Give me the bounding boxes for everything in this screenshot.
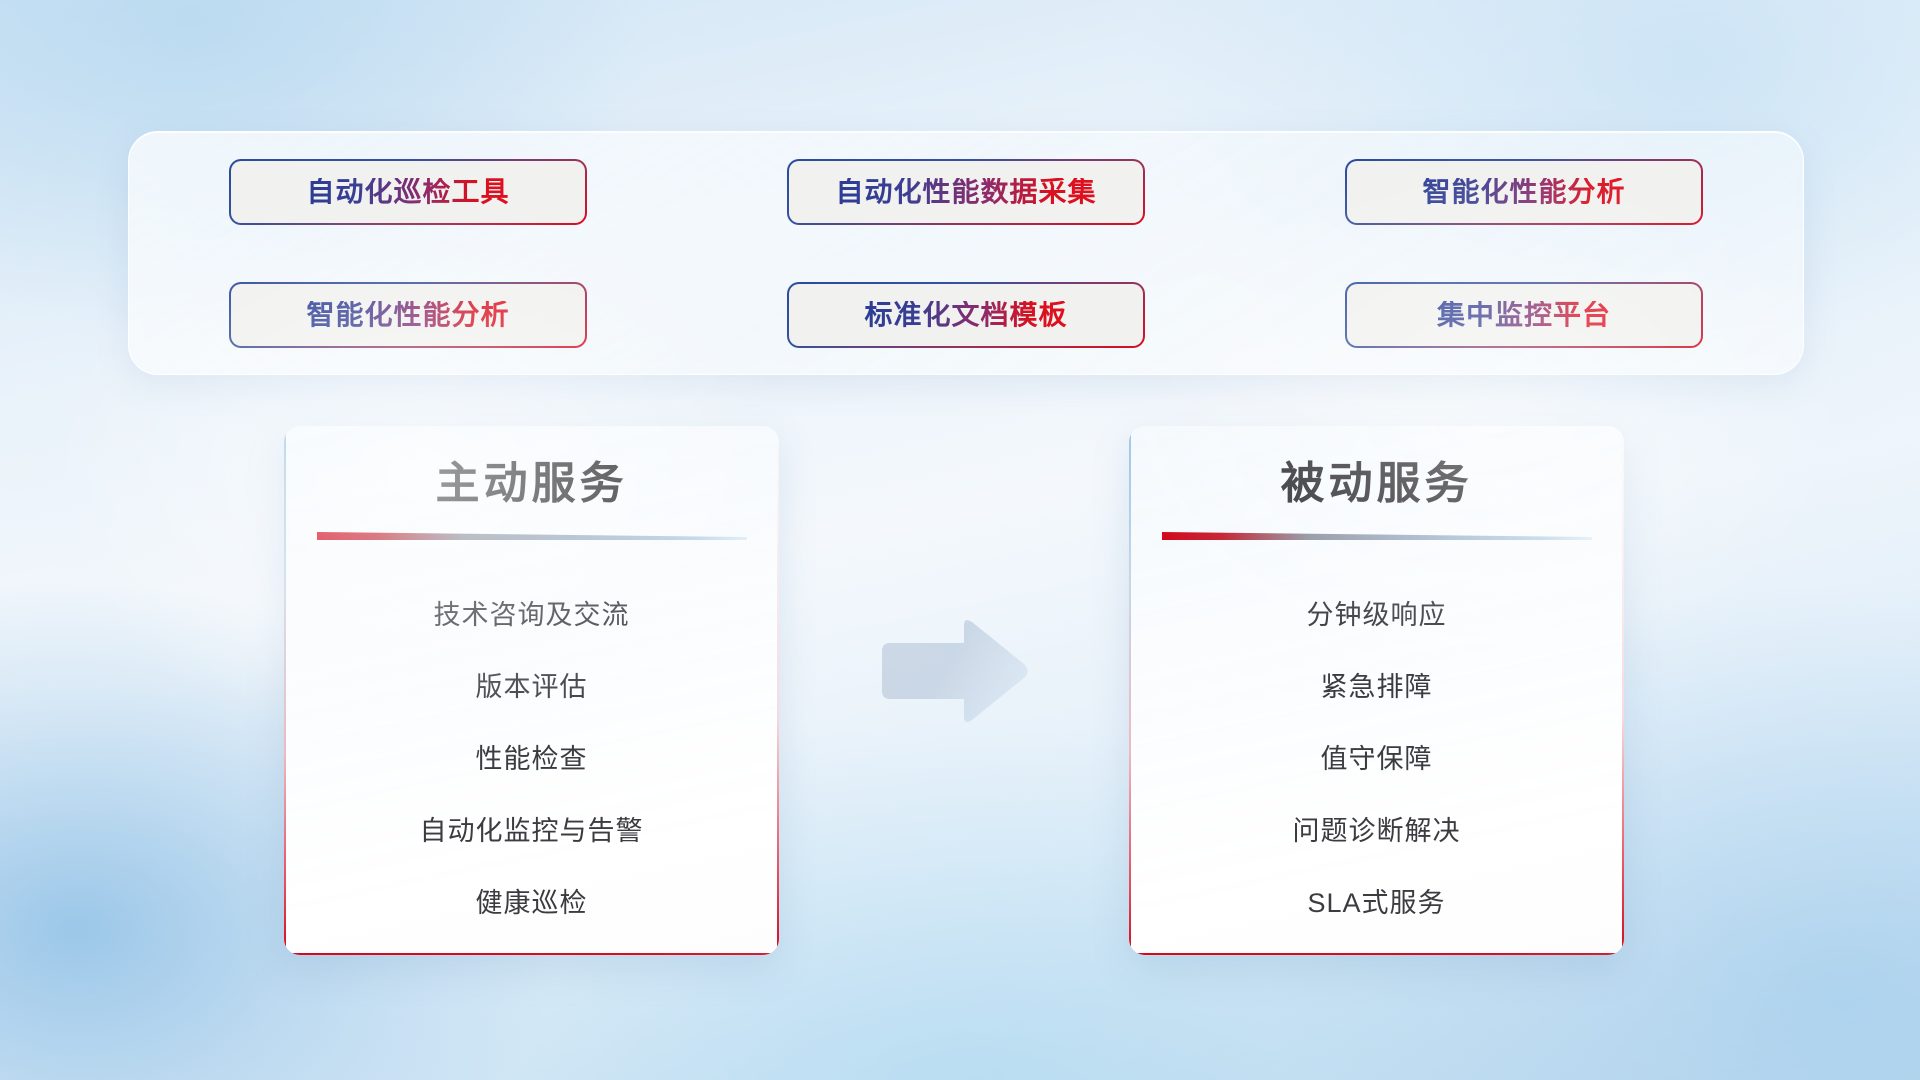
capability-pill-label: 智能化性能分析 [1422, 178, 1625, 206]
list-item[interactable]: 问题诊断解决 [1293, 792, 1461, 864]
capability-pill-label: 智能化性能分析 [306, 301, 509, 329]
capability-pill-2[interactable]: 自动化性能数据采集 [787, 159, 1145, 225]
capability-panel: 自动化巡检工具 自动化性能数据采集 智能化性能分析 智能化性能分析 标准化文档模… [128, 131, 1804, 375]
service-card-reactive: 被动服务 分钟级响应 紧急排障 值守保障 [1129, 426, 1624, 955]
list-item[interactable]: 版本评估 [476, 648, 588, 720]
card-item-list: 技术咨询及交流 版本评估 性能检查 自动化监控与告警 健康巡检 [284, 576, 779, 936]
list-item[interactable]: 技术咨询及交流 [434, 576, 630, 648]
capability-pill-6[interactable]: 集中监控平台 [1345, 282, 1703, 348]
capability-pill-5[interactable]: 标准化文档模板 [787, 282, 1145, 348]
capability-pill-label: 自动化性能数据采集 [835, 178, 1096, 206]
card-item-list: 分钟级响应 紧急排障 值守保障 问题诊断解决 SLA式服务 [1129, 576, 1624, 936]
slide-canvas: 自动化巡检工具 自动化性能数据采集 智能化性能分析 智能化性能分析 标准化文档模… [0, 0, 1920, 1080]
capability-pill-1[interactable]: 自动化巡检工具 [229, 159, 587, 225]
list-item[interactable]: 值守保障 [1321, 720, 1433, 792]
card-edge-accent [777, 426, 779, 955]
capability-pill-3[interactable]: 智能化性能分析 [1345, 159, 1703, 225]
card-divider [317, 530, 747, 542]
list-item[interactable]: 自动化监控与告警 [420, 792, 644, 864]
card-title: 被动服务 [1281, 460, 1473, 508]
list-item[interactable]: 分钟级响应 [1307, 576, 1447, 648]
list-item[interactable]: 性能检查 [476, 720, 588, 792]
list-item[interactable]: 紧急排障 [1321, 648, 1433, 720]
card-title: 主动服务 [436, 460, 628, 508]
capability-pill-label: 集中监控平台 [1437, 301, 1611, 329]
card-divider [1162, 530, 1592, 542]
list-item[interactable]: 健康巡检 [476, 864, 588, 936]
service-card-proactive: 主动服务 技术咨询及交流 版本评估 性能检查 [284, 426, 779, 955]
capability-pill-label: 自动化巡检工具 [306, 178, 509, 206]
capability-pill-label: 标准化文档模板 [864, 301, 1067, 329]
capability-pill-4[interactable]: 智能化性能分析 [229, 282, 587, 348]
list-item[interactable]: SLA式服务 [1307, 864, 1445, 936]
right-arrow-icon [874, 617, 1029, 727]
card-edge-accent [1622, 426, 1624, 955]
